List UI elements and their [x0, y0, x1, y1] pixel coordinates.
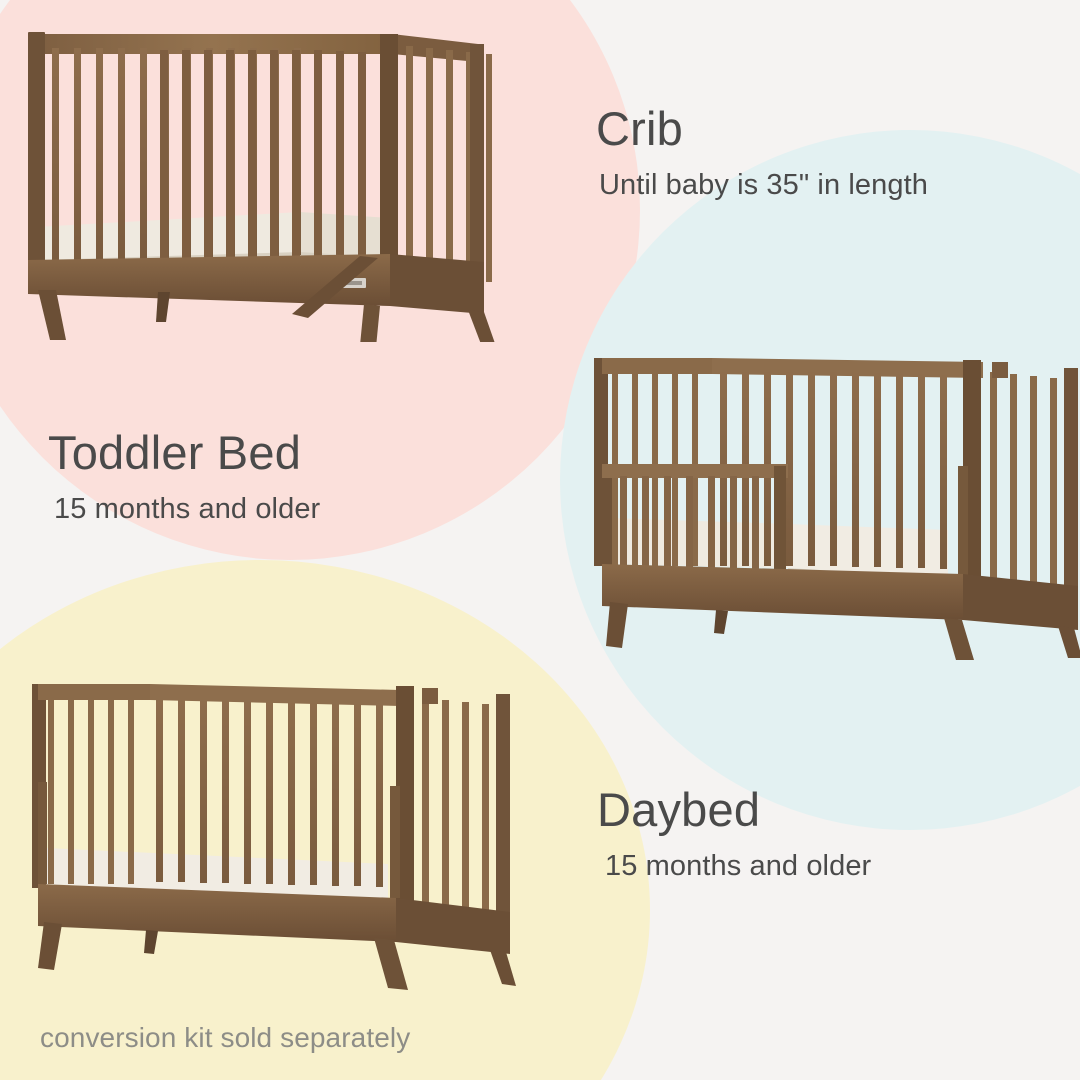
conversion-stages-infographic: Crib Until baby is 35" in length Toddler… [0, 0, 1080, 1080]
conversion-kit-footnote: conversion kit sold separately [40, 1022, 410, 1054]
daybed-text-group: Daybed 15 months and older [597, 785, 871, 886]
crib-subtitle: Until baby is 35" in length [599, 167, 928, 205]
crib-text-group: Crib Until baby is 35" in length [596, 104, 928, 205]
crib-title: Crib [596, 104, 928, 153]
crib-illustration [8, 22, 524, 342]
toddler-bed-subtitle: 15 months and older [54, 491, 320, 529]
toddler-bed-text-group: Toddler Bed 15 months and older [48, 428, 320, 529]
toddler-bed-title: Toddler Bed [48, 428, 320, 477]
daybed-subtitle: 15 months and older [605, 848, 871, 886]
toddler-bed-illustration [588, 330, 1080, 660]
daybed-title: Daybed [597, 785, 871, 834]
daybed-illustration [18, 668, 524, 993]
